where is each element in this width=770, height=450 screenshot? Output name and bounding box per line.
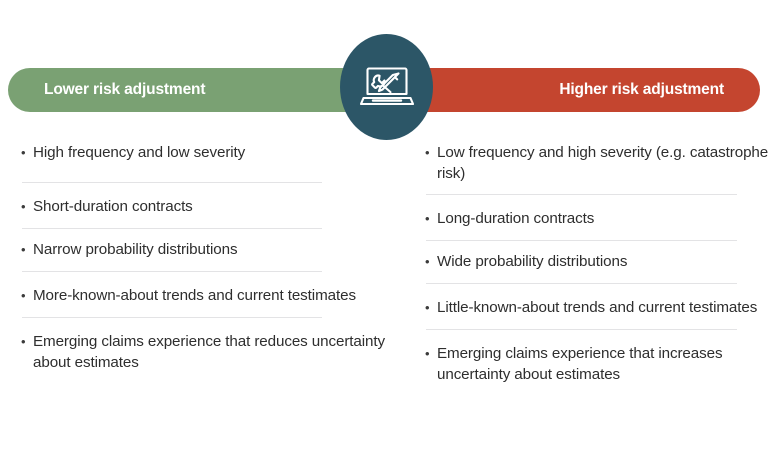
bullet-icon: • — [425, 297, 437, 319]
list-item-label: Emerging claims experience that reduces … — [33, 331, 402, 373]
spacer — [425, 230, 770, 240]
list-item: • Long-duration contracts — [425, 208, 770, 230]
comparison-columns: • High frequency and low severity • Shor… — [0, 142, 770, 442]
banner-higher-risk-label: Higher risk adjustment — [559, 81, 724, 99]
spacer — [425, 330, 770, 343]
bullet-icon: • — [21, 142, 33, 164]
spacer — [425, 241, 770, 251]
list-item: • Short-duration contracts — [21, 196, 402, 218]
list-item: • Narrow probability distributions — [21, 239, 402, 261]
spacer — [21, 183, 402, 196]
bullet-icon: • — [21, 239, 33, 261]
list-item-label: Long-duration contracts — [437, 208, 770, 229]
list-item-label: High frequency and low severity — [33, 142, 402, 163]
spacer — [21, 272, 402, 285]
spacer — [425, 195, 770, 208]
spacer — [425, 184, 770, 194]
spacer — [21, 229, 402, 239]
list-item: • Little-known-about trends and current … — [425, 297, 770, 319]
list-item: • High frequency and low severity — [21, 142, 402, 164]
banner-lower-risk-label: Lower risk adjustment — [44, 81, 205, 99]
laptop-tools-icon — [360, 64, 414, 110]
list-item-label: Low frequency and high severity (e.g. ca… — [437, 142, 770, 184]
list-item-label: Short-duration contracts — [33, 196, 402, 217]
banner-lower-risk: Lower risk adjustment — [8, 68, 390, 112]
spacer — [425, 284, 770, 297]
spacer — [425, 273, 770, 283]
bullet-icon: • — [425, 251, 437, 273]
spacer — [21, 164, 402, 182]
list-item: • Emerging claims experience that increa… — [425, 343, 770, 385]
banner-higher-risk: Higher risk adjustment — [382, 68, 760, 112]
list-item: • Low frequency and high severity (e.g. … — [425, 142, 770, 184]
list-item-label: Wide probability distributions — [437, 251, 770, 272]
risk-adjustment-infographic: Lower risk adjustment Higher risk adjust… — [0, 0, 770, 450]
list-item-label: Little-known-about trends and current te… — [437, 297, 770, 318]
list-item-label: More-known-about trends and current test… — [33, 285, 402, 306]
bullet-icon: • — [21, 285, 33, 307]
list-item-label: Emerging claims experience that increase… — [437, 343, 770, 385]
spacer — [21, 307, 402, 317]
list-item-label: Narrow probability distributions — [33, 239, 402, 260]
bullet-icon: • — [425, 343, 437, 365]
spacer — [21, 218, 402, 228]
list-item: • More-known-about trends and current te… — [21, 285, 402, 307]
bullet-icon: • — [425, 208, 437, 230]
bullet-icon: • — [21, 196, 33, 218]
list-item: • Emerging claims experience that reduce… — [21, 331, 402, 373]
bullet-icon: • — [425, 142, 437, 164]
spacer — [21, 318, 402, 331]
center-medallion — [340, 34, 433, 140]
spacer — [425, 319, 770, 329]
bullet-icon: • — [21, 331, 33, 353]
list-item: • Wide probability distributions — [425, 251, 770, 273]
column-higher-risk: • Low frequency and high severity (e.g. … — [402, 142, 770, 442]
column-lower-risk: • High frequency and low severity • Shor… — [0, 142, 402, 442]
spacer — [21, 261, 402, 271]
